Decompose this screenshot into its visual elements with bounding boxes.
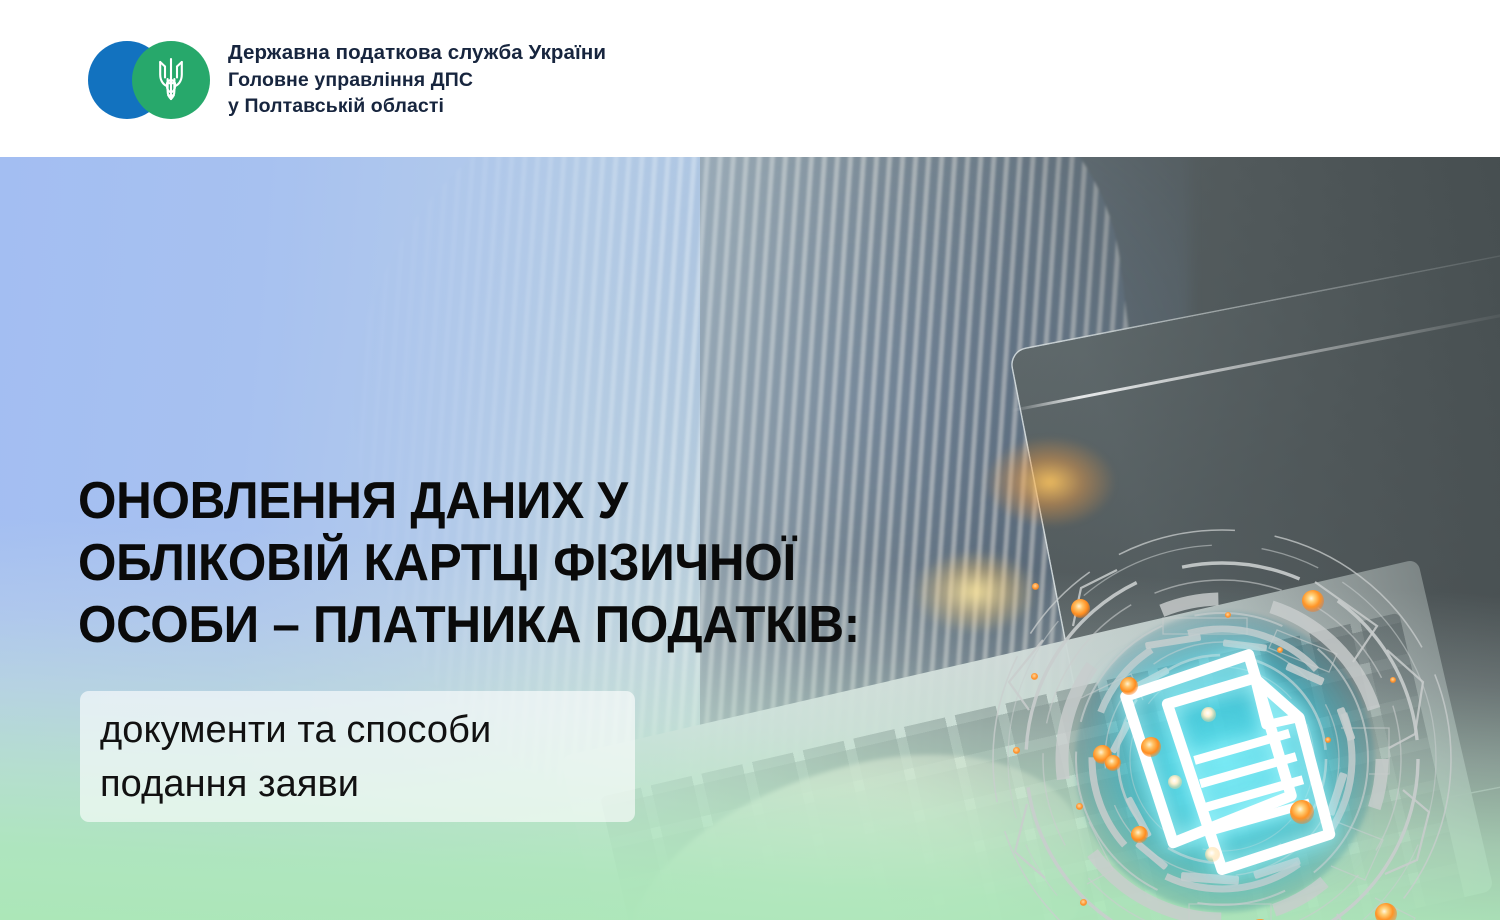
headline-line-3: ОСОБИ – ПЛАТНИКА ПОДАТКІВ: — [78, 594, 1019, 656]
subtitle-panel: документи та способи подання заяви — [80, 691, 635, 822]
headline-line-2: ОБЛІКОВІЙ КАРТЦІ ФІЗИЧНОЇ — [78, 532, 1019, 594]
logo-marks — [88, 41, 210, 119]
page-title: ОНОВЛЕННЯ ДАНИХ У ОБЛІКОВІЙ КАРТЦІ ФІЗИЧ… — [78, 470, 1019, 656]
banner-root: Державна податкова служба України Головн… — [0, 0, 1500, 920]
org-line-1: Державна податкова служба України — [228, 40, 606, 66]
organization-logo: Державна податкова служба України Головн… — [88, 40, 606, 119]
org-line-3: у Полтавській області — [228, 94, 606, 120]
document-pages-icon — [1110, 637, 1350, 897]
subtitle-line-2: подання заяви — [100, 757, 635, 811]
org-line-2: Головне управління ДПС — [228, 68, 606, 94]
subtitle-line-1: документи та способи — [100, 703, 635, 757]
document-pages-svg — [1110, 637, 1350, 897]
header-bar: Державна податкова служба України Головн… — [0, 0, 1500, 157]
organization-name: Державна податкова служба України Головн… — [228, 40, 606, 119]
hero-artwork: ОНОВЛЕННЯ ДАНИХ У ОБЛІКОВІЙ КАРТЦІ ФІЗИЧ… — [0, 157, 1500, 920]
headline-line-1: ОНОВЛЕННЯ ДАНИХ У — [78, 470, 1019, 532]
ukrainian-trident-icon — [154, 55, 188, 103]
